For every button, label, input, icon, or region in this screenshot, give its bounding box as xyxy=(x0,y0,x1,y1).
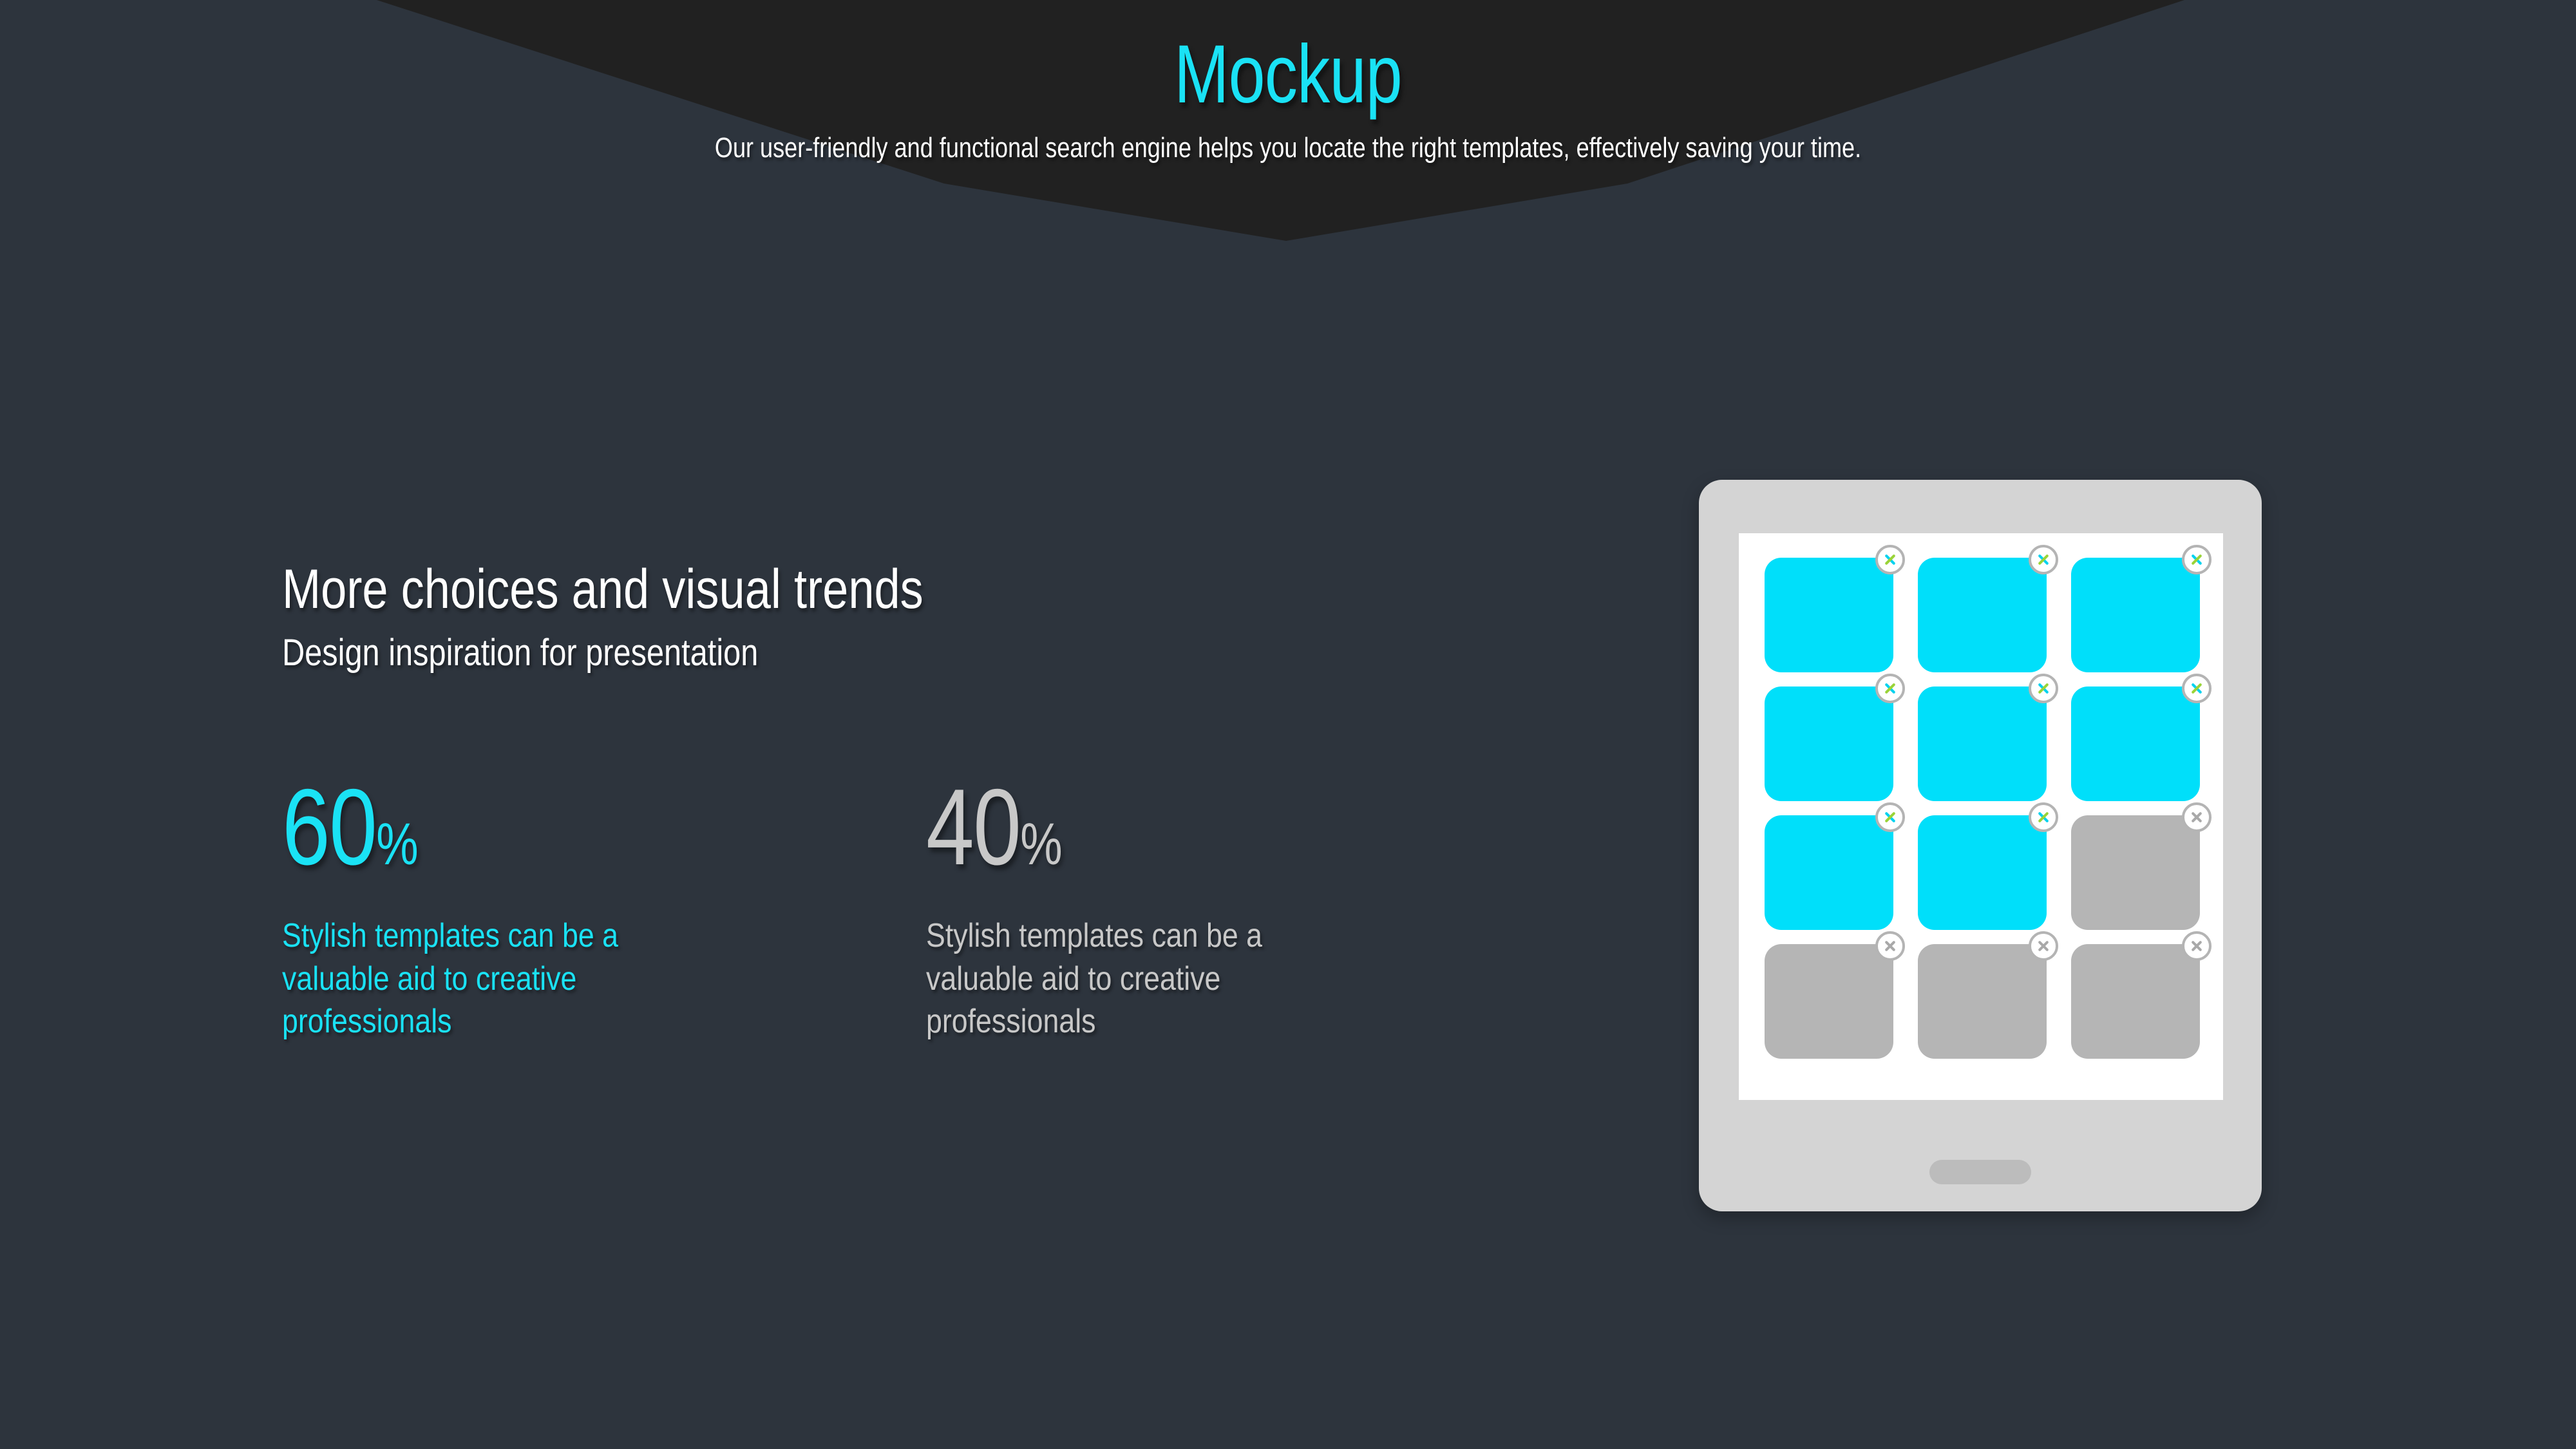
stat-unit-1: % xyxy=(376,811,418,877)
close-x-icon[interactable] xyxy=(2182,931,2211,961)
close-x-icon[interactable] xyxy=(1875,545,1905,574)
slide-canvas: Mockup Our user-friendly and functional … xyxy=(0,0,2576,1449)
app-tile-face[interactable] xyxy=(2071,558,2200,672)
app-tile-10[interactable] xyxy=(1765,944,1893,1059)
close-x-icon[interactable] xyxy=(2029,931,2058,961)
app-tile-face[interactable] xyxy=(1765,558,1893,672)
stat-value-2: 40% xyxy=(926,773,1441,881)
close-x-icon[interactable] xyxy=(2029,674,2058,703)
app-tile-3[interactable] xyxy=(2071,558,2200,672)
stat-value-1: 60% xyxy=(282,773,797,881)
app-tile-face[interactable] xyxy=(2071,687,2200,801)
app-tile-1[interactable] xyxy=(1765,558,1893,672)
app-grid xyxy=(1765,558,2200,1059)
stat-description-1: Stylish templates can be a valuable aid … xyxy=(282,881,703,1043)
stat-unit-2: % xyxy=(1020,811,1062,877)
close-x-icon[interactable] xyxy=(2029,802,2058,832)
app-tile-face[interactable] xyxy=(1918,687,2047,801)
close-x-icon[interactable] xyxy=(2182,674,2211,703)
section-heading: More choices and visual trends xyxy=(282,560,1310,618)
app-tile-2[interactable] xyxy=(1918,558,2047,672)
app-tile-face[interactable] xyxy=(1918,558,2047,672)
stat-number-2: 40 xyxy=(926,766,1020,887)
app-tile-5[interactable] xyxy=(1918,687,2047,801)
app-tile-face[interactable] xyxy=(2071,815,2200,930)
app-tile-7[interactable] xyxy=(1765,815,1893,930)
close-x-icon[interactable] xyxy=(2182,545,2211,574)
app-tile-4[interactable] xyxy=(1765,687,1893,801)
stats-row: 60% Stylish templates can be a valuable … xyxy=(282,773,1570,1043)
page-title: Mockup xyxy=(258,0,2318,116)
app-tile-face[interactable] xyxy=(1765,687,1893,801)
close-x-icon[interactable] xyxy=(1875,802,1905,832)
app-tile-6[interactable] xyxy=(2071,687,2200,801)
page-subtitle: Our user-friendly and functional search … xyxy=(232,116,2344,164)
app-tile-11[interactable] xyxy=(1918,944,2047,1059)
app-tile-face[interactable] xyxy=(1765,944,1893,1059)
tablet-home-button[interactable] xyxy=(1929,1160,2031,1184)
app-tile-12[interactable] xyxy=(2071,944,2200,1059)
stat-card-1: 60% Stylish templates can be a valuable … xyxy=(282,773,926,1043)
app-tile-9[interactable] xyxy=(2071,815,2200,930)
close-x-icon[interactable] xyxy=(1875,674,1905,703)
close-x-icon[interactable] xyxy=(2182,802,2211,832)
header-text-group: Mockup Our user-friendly and functional … xyxy=(0,0,2576,164)
section-subheading: Design inspiration for presentation xyxy=(282,618,1310,674)
tablet-mockup xyxy=(1699,480,2262,1211)
close-x-icon[interactable] xyxy=(2029,545,2058,574)
lead-text-group: More choices and visual trends Design in… xyxy=(282,560,1506,674)
app-tile-face[interactable] xyxy=(1918,815,2047,930)
app-tile-8[interactable] xyxy=(1918,815,2047,930)
tablet-screen xyxy=(1739,533,2223,1100)
app-tile-face[interactable] xyxy=(2071,944,2200,1059)
app-tile-face[interactable] xyxy=(1918,944,2047,1059)
app-tile-face[interactable] xyxy=(1765,815,1893,930)
stat-description-2: Stylish templates can be a valuable aid … xyxy=(926,881,1347,1043)
stat-number-1: 60 xyxy=(282,766,376,887)
close-x-icon[interactable] xyxy=(1875,931,1905,961)
stat-card-2: 40% Stylish templates can be a valuable … xyxy=(926,773,1570,1043)
